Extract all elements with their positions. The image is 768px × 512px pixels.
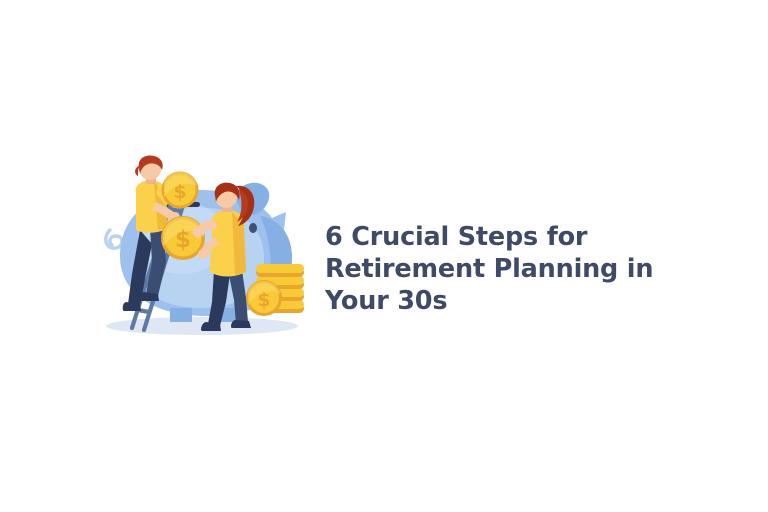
page-title: 6 Crucial Steps for Retirement Planning … xyxy=(325,221,685,317)
piggy-bank-savings-illustration: $ $ xyxy=(96,152,312,344)
article-header-banner: $ $ xyxy=(0,0,768,512)
piggy-nostril xyxy=(249,223,257,233)
coin-top: $ xyxy=(162,172,199,209)
svg-text:$: $ xyxy=(175,227,191,253)
piggy-tail xyxy=(106,230,122,248)
svg-text:$: $ xyxy=(257,289,270,311)
svg-text:$: $ xyxy=(173,181,186,203)
